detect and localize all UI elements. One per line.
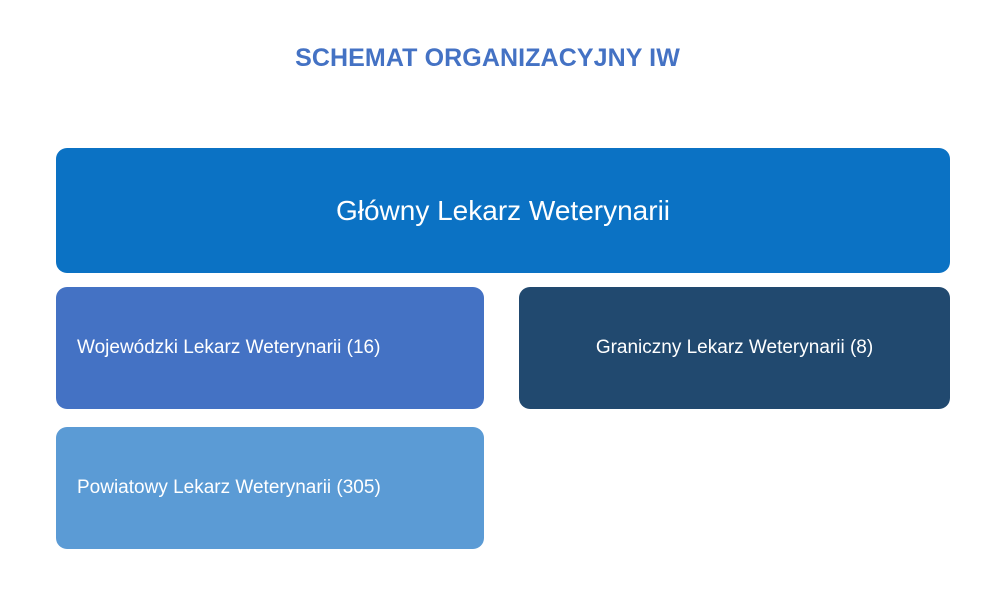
- page-title: SCHEMAT ORGANIZACYJNY IW: [0, 44, 975, 73]
- org-node-label: Główny Lekarz Weterynarii: [336, 194, 670, 228]
- org-node-label: Powiatowy Lekarz Weterynarii (305): [77, 477, 381, 500]
- org-node-wojewodzki-lekarz-weterynarii[interactable]: Wojewódzki Lekarz Weterynarii (16): [56, 287, 484, 409]
- org-node-label: Wojewódzki Lekarz Weterynarii (16): [77, 337, 380, 360]
- org-node-graniczny-lekarz-weterynarii[interactable]: Graniczny Lekarz Weterynarii (8): [519, 287, 950, 409]
- org-node-glowny-lekarz-weterynarii[interactable]: Główny Lekarz Weterynarii: [56, 148, 950, 273]
- org-node-powiatowy-lekarz-weterynarii[interactable]: Powiatowy Lekarz Weterynarii (305): [56, 427, 484, 549]
- org-node-label: Graniczny Lekarz Weterynarii (8): [596, 337, 873, 360]
- org-chart-canvas: SCHEMAT ORGANIZACYJNY IW Główny Lekarz W…: [0, 0, 1000, 600]
